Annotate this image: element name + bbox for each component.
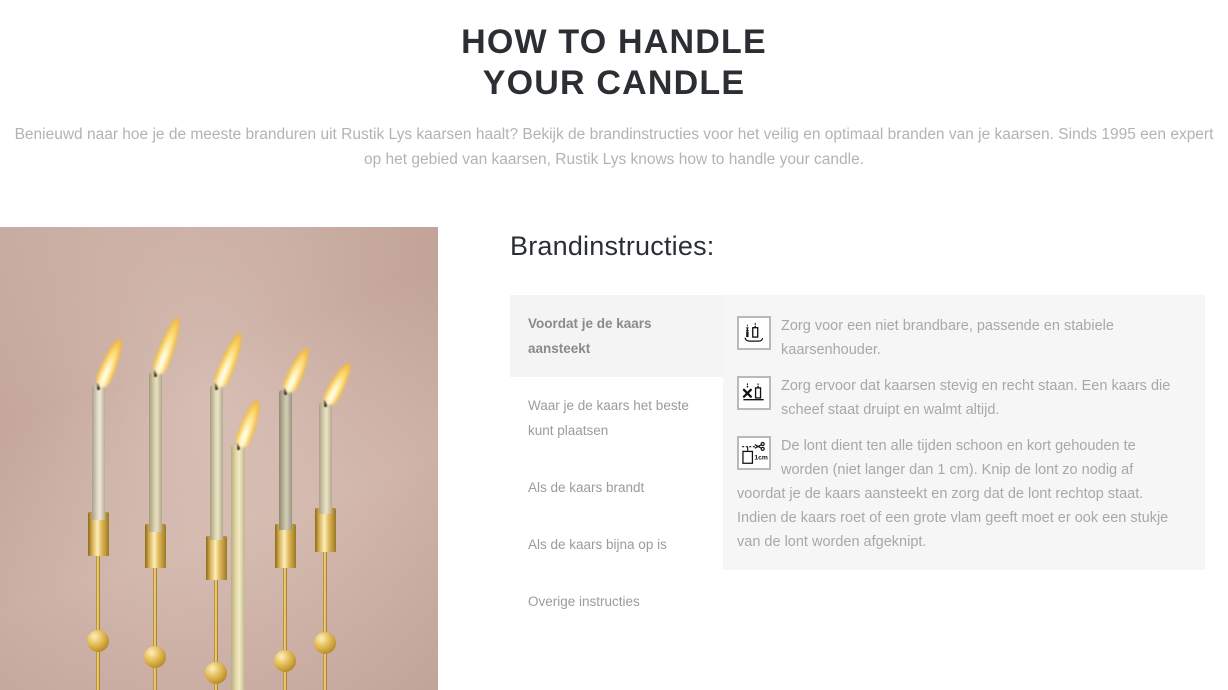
brandinstructies-accordion: Voordat je de kaars aansteekt Waar je de… <box>510 295 1205 570</box>
page-title: HOW TO HANDLE YOUR CANDLE <box>0 0 1228 104</box>
holder-stem-icon <box>153 562 157 690</box>
candle-taper <box>279 390 292 530</box>
section-title: Brandinstructies: <box>510 229 1228 263</box>
instructions-section: Brandinstructies: Voordat je de kaars aa… <box>510 227 1228 690</box>
holder-cup-icon <box>315 508 336 552</box>
tab-voordat-je-de-kaars-aansteekt[interactable]: Voordat je de kaars aansteekt <box>510 295 723 377</box>
trim-wick-1cm-scissors-icon: 1cm <box>737 436 771 470</box>
holder-ball-icon <box>144 646 166 668</box>
accordion-tab-list: Voordat je de kaars aansteekt Waar je de… <box>510 295 723 570</box>
tab-als-de-kaars-bijna-op-is[interactable]: Als de kaars bijna op is <box>510 516 723 573</box>
holder-stem-icon <box>323 550 327 690</box>
holder-ball-icon <box>274 650 296 672</box>
page-title-line-1: HOW TO HANDLE <box>0 22 1228 63</box>
holder-cup-icon <box>206 536 227 580</box>
instruction-item: Zorg ervoor dat kaarsen stevig en recht … <box>737 374 1183 422</box>
instruction-text: Zorg voor een niet brandbare, passende e… <box>781 318 1114 358</box>
instruction-text: Zorg ervoor dat kaarsen stevig en recht … <box>781 378 1170 418</box>
intro-paragraph: Benieuwd naar hoe je de meeste branduren… <box>8 122 1220 172</box>
holder-cup-icon <box>275 524 296 568</box>
holder-ball-icon <box>205 662 227 684</box>
candle-in-holder-icon <box>737 316 771 350</box>
candle-taper <box>149 372 162 532</box>
candle-taper <box>231 445 245 690</box>
instruction-item: 1cm De lont dient ten alle tijden schoon… <box>737 434 1183 554</box>
candle-upright-not-tilted-icon <box>737 376 771 410</box>
holder-ball-icon <box>314 632 336 654</box>
instruction-text: De lont dient ten alle tijden schoon en … <box>737 438 1168 550</box>
candle-taper <box>92 385 105 520</box>
tab-overige-instructies[interactable]: Overige instructies <box>510 573 723 630</box>
badge-1cm-label: 1cm <box>754 454 767 461</box>
candle-taper <box>319 402 332 514</box>
accordion-panel: Zorg voor een niet brandbare, passende e… <box>723 295 1205 570</box>
instruction-item: Zorg voor een niet brandbare, passende e… <box>737 314 1183 362</box>
holder-ball-icon <box>87 630 109 652</box>
candle-photo <box>0 227 438 690</box>
page-title-line-2: YOUR CANDLE <box>0 63 1228 104</box>
main-content: Brandinstructies: Voordat je de kaars aa… <box>0 227 1228 690</box>
holder-stem-icon <box>96 550 100 690</box>
tab-als-de-kaars-brandt[interactable]: Als de kaars brandt <box>510 459 723 516</box>
tab-waar-je-de-kaars-het-beste-kunt-plaatsen[interactable]: Waar je de kaars het beste kunt plaatsen <box>510 377 723 459</box>
candle-taper <box>210 385 223 540</box>
